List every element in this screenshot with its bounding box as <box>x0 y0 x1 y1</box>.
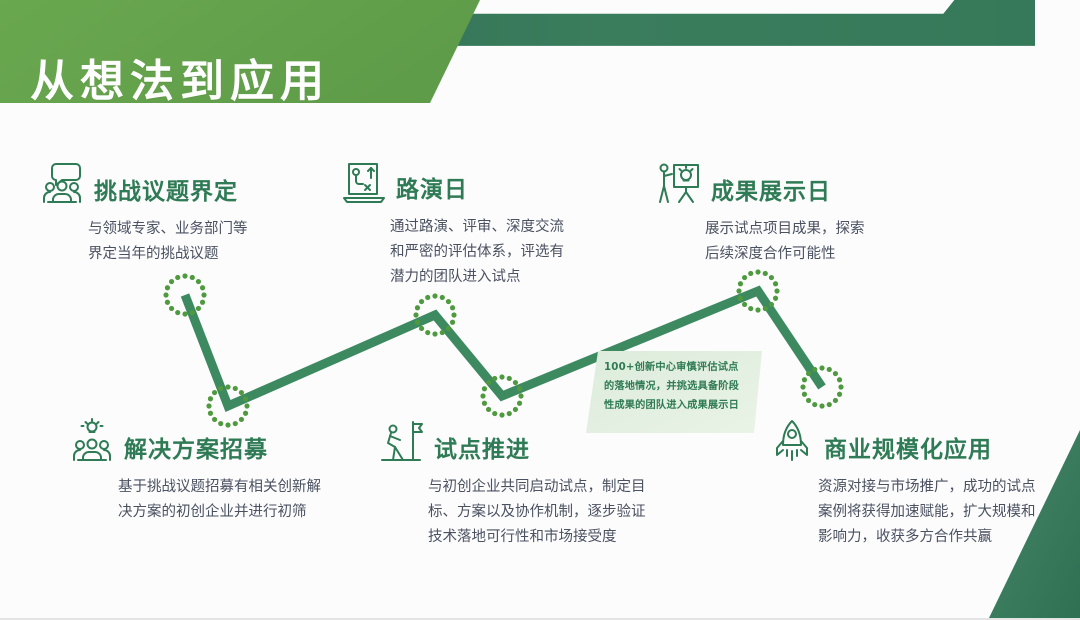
page-title: 从想法到应用 <box>30 45 330 109</box>
milestone-header: 成果展示日 <box>655 160 935 208</box>
milestone-title: 成果展示日 <box>711 181 831 208</box>
milestone-title: 路演日 <box>396 179 468 206</box>
milestone-header: 挑战议题界定 <box>38 160 308 208</box>
infographic-canvas: 从想法到应用 <box>0 0 1080 620</box>
milestone-title: 商业规模化应用 <box>824 439 992 466</box>
node-marker <box>163 273 206 316</box>
milestone-description: 与初创企业共同启动试点，制定目 标、方案以及协作机制，逐步验证 技术落地可行性和… <box>428 475 708 550</box>
callout-text: 100+创新中心审慎评估试点 的落地情况，并挑选具备阶段 性成果的团队进入成果展… <box>604 359 752 416</box>
milestone-header: 路演日 <box>340 158 620 206</box>
milestone-title: 挑战议题界定 <box>94 181 238 208</box>
milestone-description: 通过路演、评审、深度交流 和严密的评估体系，评选有 潜力的团队进入试点 <box>390 215 620 290</box>
node-marker <box>736 269 779 312</box>
presenter-board-bulb-icon <box>655 160 703 208</box>
node-marker <box>800 365 843 408</box>
milestone-roadshow-day[interactable]: 路演日 通过路演、评审、深度交流 和严密的评估体系，评选有 潜力的团队进入试点 <box>340 158 620 290</box>
node-marker <box>413 293 456 336</box>
milestone-title: 解决方案招募 <box>124 439 268 466</box>
rocket-icon <box>768 418 816 466</box>
milestone-challenge-definition[interactable]: 挑战议题界定 与领域专家、业务部门等 界定当年的挑战议题 <box>38 160 308 267</box>
milestone-commercial-scale-up[interactable]: 商业规模化应用 资源对接与市场推广，成功的试点 案例将获得加速赋能，扩大规模和 … <box>768 418 1068 550</box>
milestone-description: 展示试点项目成果，探索 后续深度合作可能性 <box>705 217 935 267</box>
milestone-solution-recruitment[interactable]: 解决方案招募 基于挑战议题招募有相关创新解 决方案的初创企业并进行初筛 <box>68 418 388 525</box>
milestone-description: 资源对接与市场推广，成功的试点 案例将获得加速赋能，扩大规模和 影响力，收获多方… <box>818 475 1068 550</box>
milestone-title: 试点推进 <box>434 439 530 466</box>
people-lightbulb-icon <box>68 418 116 466</box>
node-marker <box>480 374 523 417</box>
milestone-pilot-advance[interactable]: 试点推进 与初创企业共同启动试点，制定目 标、方案以及协作机制，逐步验证 技术落… <box>378 418 708 550</box>
milestone-header: 商业规模化应用 <box>768 418 1068 466</box>
milestone-description: 与领域专家、业务部门等 界定当年的挑战议题 <box>88 217 308 267</box>
milestone-description: 基于挑战议题招募有相关创新解 决方案的初创企业并进行初筛 <box>118 475 388 525</box>
milestone-header: 试点推进 <box>378 418 708 466</box>
people-speech-bubble-icon <box>38 160 86 208</box>
milestone-header: 解决方案招募 <box>68 418 388 466</box>
laptop-flowchart-icon <box>340 158 388 206</box>
milestone-results-showcase-day[interactable]: 成果展示日 展示试点项目成果，探索 后续深度合作可能性 <box>655 160 935 267</box>
climber-flag-icon <box>378 418 426 466</box>
